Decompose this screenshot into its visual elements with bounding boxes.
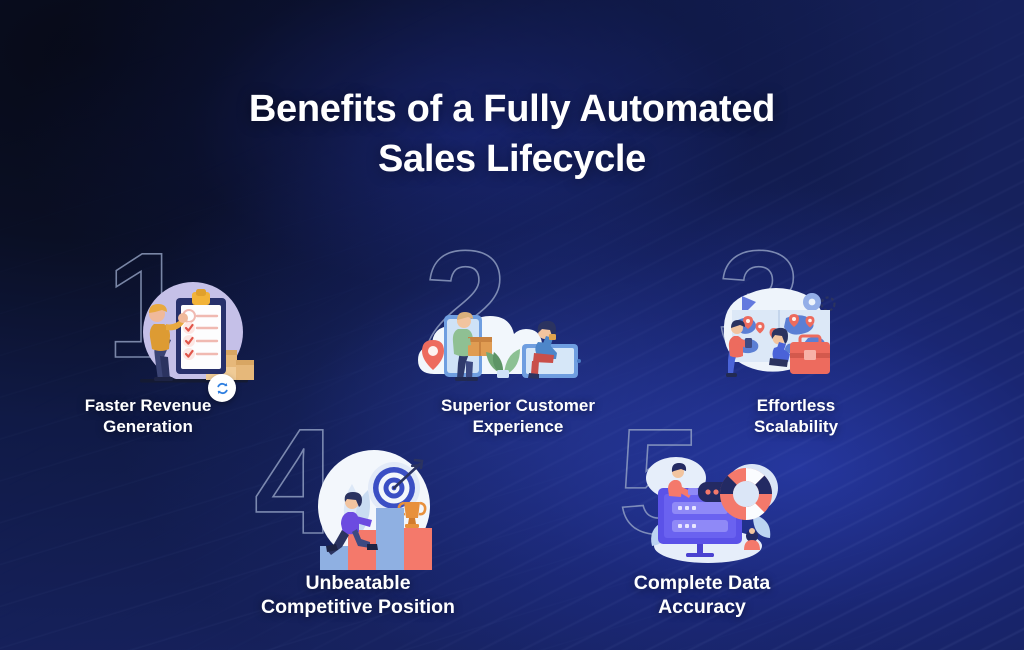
page-title-line-1: Benefits of a Fully Automated [0,84,1024,134]
benefit-label-4-line-2: Competitive Position [228,596,488,620]
page-title: Benefits of a Fully Automated Sales Life… [0,84,1024,184]
benefit-art-5: 5 [572,408,832,568]
benefit-label-5-line-2: Accuracy [572,596,832,620]
page-title-line-2: Sales Lifecycle [0,134,1024,184]
illustration-world-map-pins-briefcase [712,280,852,397]
benefit-art-4: 4 [228,408,488,568]
benefit-card-3[interactable]: 3 [666,232,926,437]
benefit-art-2: 2 [388,232,648,392]
benefit-art-3: 3 [666,232,926,392]
infographic-canvas: Benefits of a Fully Automated Sales Life… [0,0,1024,650]
benefit-card-1[interactable]: 1 [18,232,278,437]
benefit-card-4[interactable]: 4 [228,408,488,620]
benefit-card-5[interactable]: 5 [572,408,832,620]
benefit-art-1: 1 [18,232,278,392]
benefit-label-5: Complete Data Accuracy [572,572,832,620]
illustration-mobile-delivery-location-pin [412,282,587,399]
benefit-label-4: Unbeatable Competitive Position [228,572,488,620]
sync-arrows-icon [208,374,236,402]
illustration-person-checklist-clipboard-boxes [130,280,260,400]
illustration-person-climbing-bars-target-trophy [312,446,440,577]
illustration-monitor-dashboard-lifebuoy [634,450,784,577]
benefit-card-2[interactable]: 2 [388,232,648,437]
